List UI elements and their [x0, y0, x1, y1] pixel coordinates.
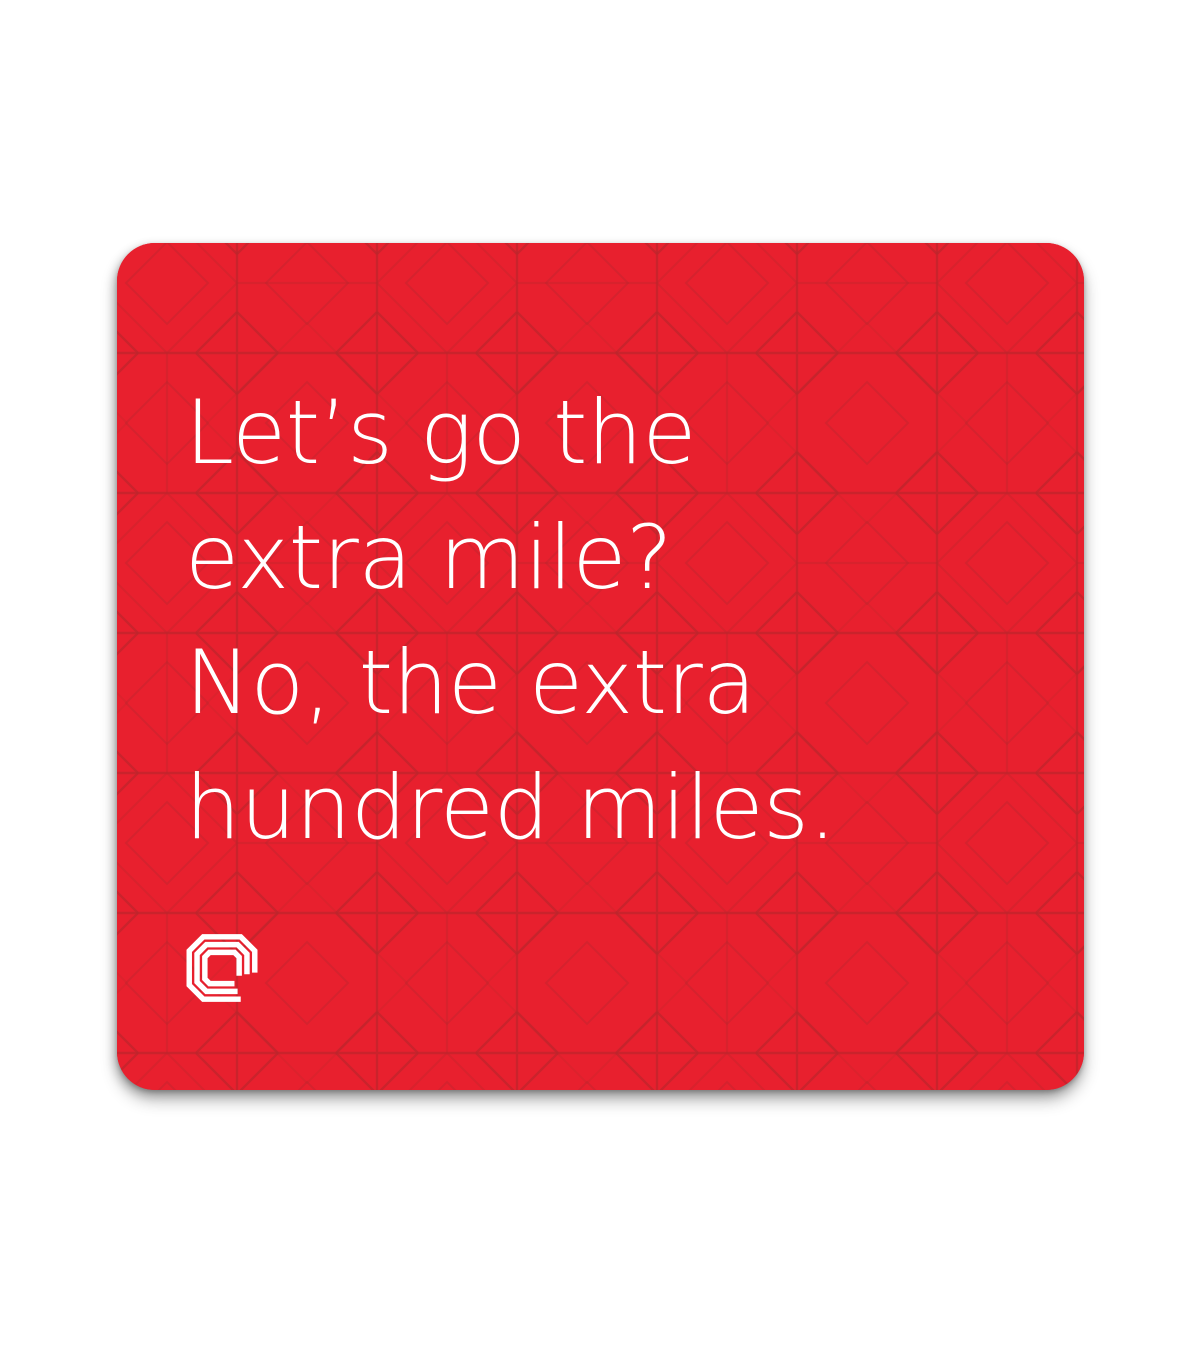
bok-octagon-spiral-logo-icon — [183, 929, 261, 1007]
headline-line-4: hundred miles. — [185, 746, 1045, 871]
headline-line-2: extra mile? — [185, 496, 1045, 621]
headline-line-3: No, the extra — [185, 621, 1045, 746]
headline-text: Let’s go the extra mile? No, the extra h… — [185, 371, 1045, 871]
mouse-pad-card: Let’s go the extra mile? No, the extra h… — [117, 243, 1084, 1090]
screenshot-canvas: Let’s go the extra mile? No, the extra h… — [0, 0, 1200, 1346]
headline-line-1: Let’s go the — [185, 371, 1045, 496]
